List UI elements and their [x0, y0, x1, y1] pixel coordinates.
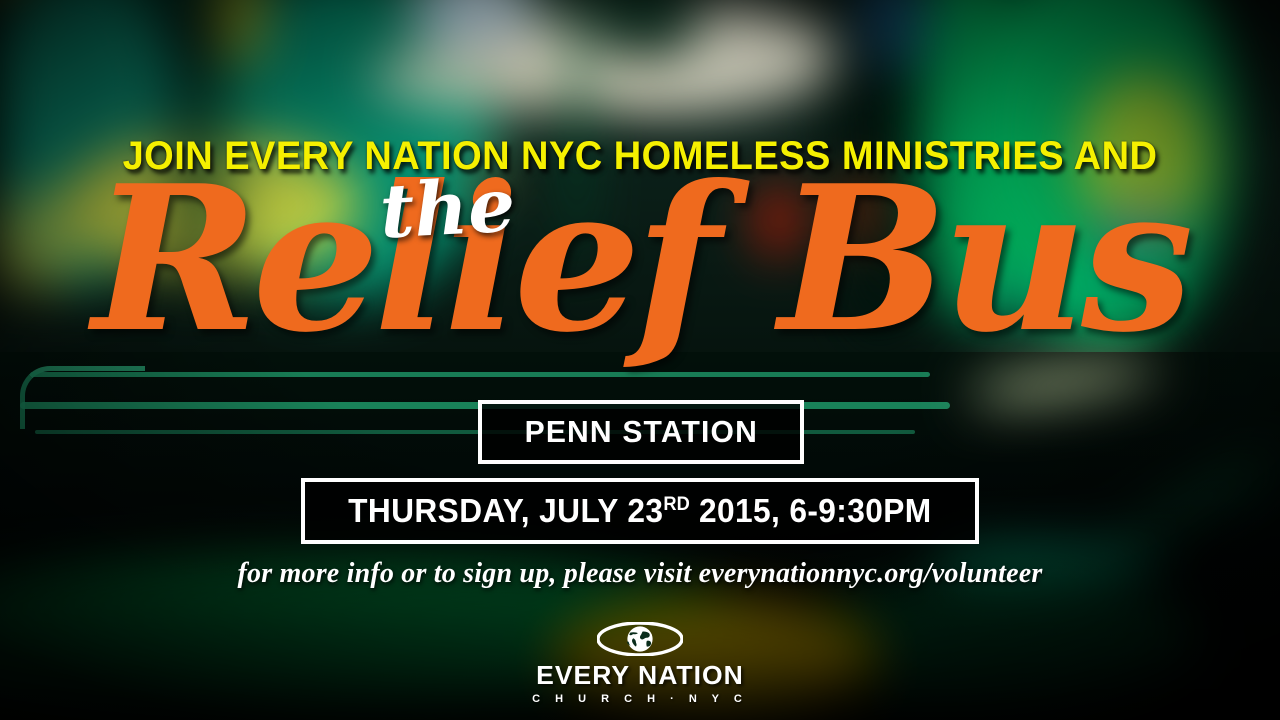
- date-ordinal-suffix: RD: [664, 494, 690, 515]
- poster-script-article: the: [378, 169, 517, 250]
- poster-title-block: Relief Bus the: [0, 160, 1280, 390]
- logo-tagline: C H U R C H · N Y C: [0, 693, 1280, 705]
- date-box: THURSDAY, JULY 23RD 2015, 6-9:30PM: [301, 478, 979, 544]
- date-text: THURSDAY, JULY 23RD 2015, 6-9:30PM: [348, 492, 931, 530]
- poster-content: JOIN EVERY NATION NYC HOMELESS MINISTRIE…: [0, 0, 1280, 720]
- every-nation-logo: EVERY NATION C H U R C H · N Y C: [0, 622, 1280, 705]
- signup-info-line: for more info or to sign up, please visi…: [0, 558, 1280, 590]
- date-prefix: THURSDAY, JULY 23: [348, 492, 663, 529]
- date-suffix: 2015, 6-9:30PM: [690, 492, 932, 529]
- logo-name: EVERY NATION: [0, 660, 1280, 691]
- globe-icon: [597, 622, 683, 656]
- location-box: PENN STATION: [478, 400, 804, 464]
- relief-bus-event-poster: JOIN EVERY NATION NYC HOMELESS MINISTRIE…: [0, 0, 1280, 720]
- poster-script-title: Relief Bus: [0, 160, 1280, 360]
- location-label: PENN STATION: [524, 414, 757, 450]
